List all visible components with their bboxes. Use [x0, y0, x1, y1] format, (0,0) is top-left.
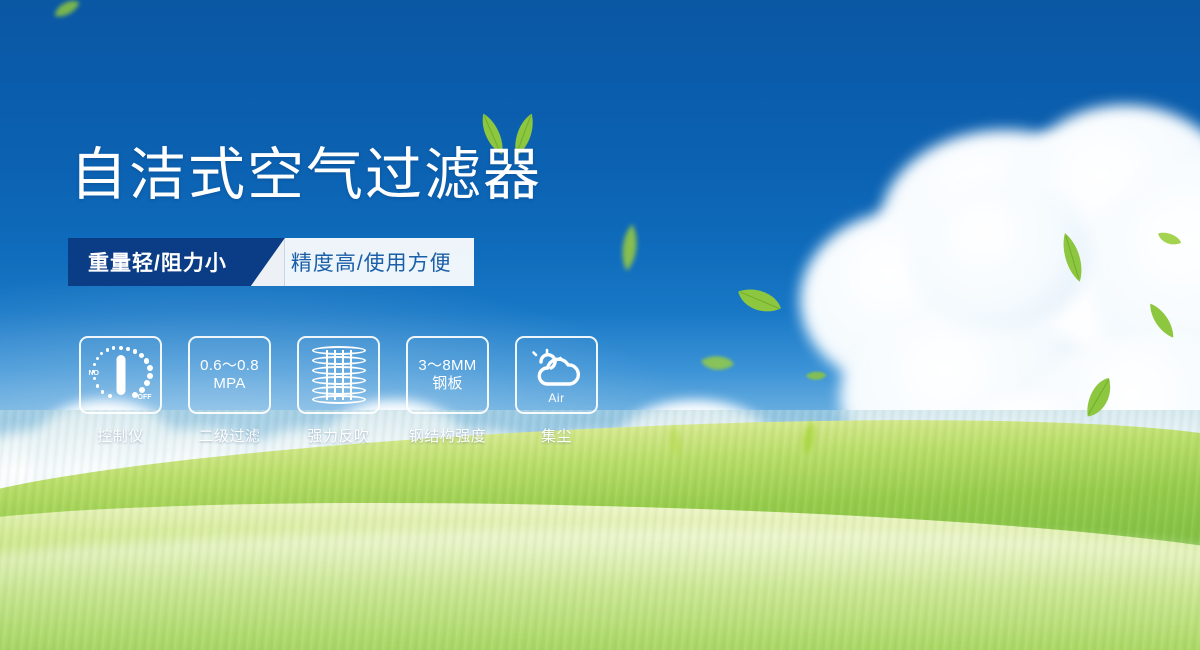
control-dial-icon: NO OFF: [90, 346, 152, 404]
steel-plate-icon: 3～8MM 钢板: [418, 357, 476, 394]
feature-icon-box: [297, 336, 380, 414]
subtitle-divider: [251, 238, 285, 286]
steel-line-2: 钢板: [418, 375, 476, 393]
feature-icon-box: 3～8MM 钢板: [406, 336, 489, 414]
feature-list: NO OFF 控制仪 0.6～0.8 MPA 二级过滤: [79, 336, 598, 446]
pressure-value-icon: 0.6～0.8 MPA: [200, 357, 259, 394]
subtitle-secondary: 精度高/使用方便: [285, 238, 474, 286]
feature-label: 钢结构强度: [409, 425, 487, 446]
feature-icon-box: NO OFF: [79, 336, 162, 414]
feature-item-steel-strength[interactable]: 3～8MM 钢板 钢结构强度: [406, 336, 489, 446]
feature-icon-box: 0.6～0.8 MPA: [188, 336, 271, 414]
air-cloud-icon: Air: [527, 348, 587, 402]
subtitle-primary: 重量轻/阻力小: [68, 238, 251, 286]
dial-label-no: NO: [89, 370, 100, 377]
feature-icon-box: Air: [515, 336, 598, 414]
page-title: 自洁式空气过滤器: [70, 146, 542, 206]
pressure-line-2: MPA: [200, 375, 259, 393]
blowback-discs-icon: [312, 346, 366, 404]
subtitle-bar: 重量轻/阻力小 精度高/使用方便: [68, 238, 474, 286]
dial-label-off: OFF: [138, 394, 152, 401]
promotional-banner: 自洁式空气过滤器 重量轻/阻力小 精度高/使用方便: [0, 0, 1200, 650]
feature-item-dust-collection[interactable]: Air 集尘: [515, 336, 598, 446]
grass-texture: [0, 410, 1200, 650]
pressure-line-1: 0.6～0.8: [200, 357, 259, 375]
grass-field: [0, 410, 1200, 650]
feature-item-control-dial[interactable]: NO OFF 控制仪: [79, 336, 162, 446]
feature-label: 集尘: [541, 425, 572, 446]
feature-item-two-stage-filter[interactable]: 0.6～0.8 MPA 二级过滤: [188, 336, 271, 446]
steel-line-1: 3～8MM: [418, 357, 476, 375]
air-label: Air: [527, 391, 587, 405]
feature-item-strong-blowback[interactable]: 强力反吹: [297, 336, 380, 446]
feature-label: 控制仪: [97, 425, 144, 446]
dial-indicator: [116, 355, 125, 395]
feature-label: 强力反吹: [307, 425, 369, 446]
feature-label: 二级过滤: [198, 425, 260, 446]
